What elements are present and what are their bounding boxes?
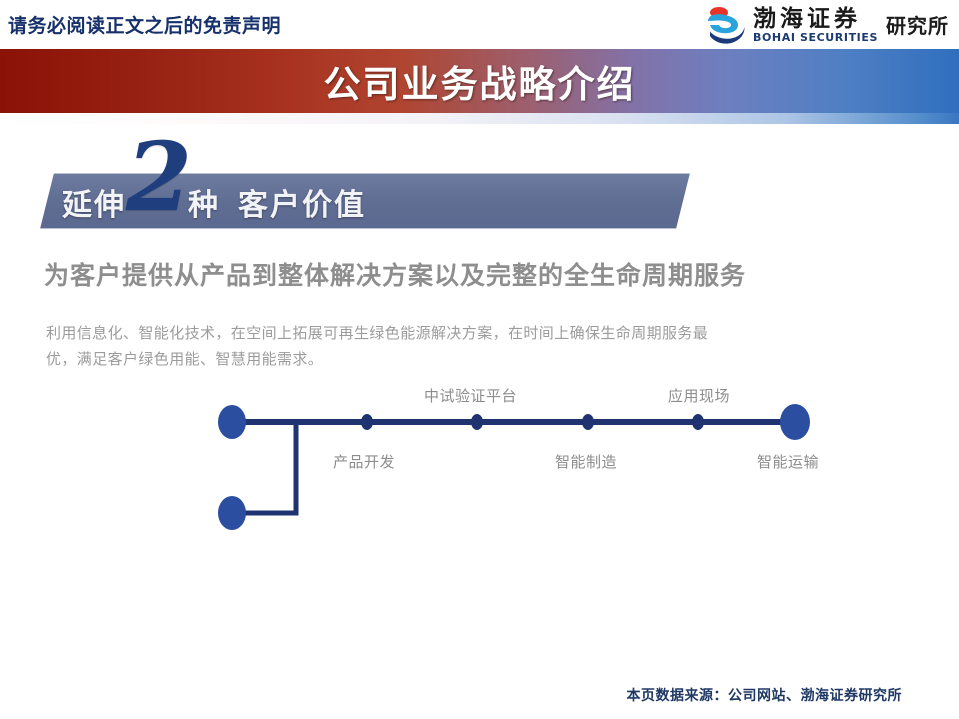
section-banner-label: 延伸种客户价值 bbox=[62, 180, 366, 224]
start-node-supply bbox=[218, 496, 246, 530]
disclaimer-text: 请务必阅读正文之后的免责声明 bbox=[8, 11, 281, 38]
logo-name-block: 渤海证券 BOHAI SECURITIES bbox=[753, 8, 878, 43]
logo-name-en: BOHAI SECURITIES bbox=[753, 32, 878, 43]
milestone-dot bbox=[692, 414, 704, 430]
banner-prefix: 延伸 bbox=[62, 188, 126, 223]
company-logo: 渤海证券 BOHAI SECURITIES 研究所 bbox=[705, 3, 949, 47]
diagram-label-milestone-4: 智能运输 bbox=[757, 451, 819, 472]
bohai-logo-mark-icon bbox=[705, 5, 747, 45]
slide-canvas: 请务必阅读正文之后的免责声明 渤海证券 BOHAI SECURITIES 研究所… bbox=[0, 0, 959, 719]
start-node-tech bbox=[218, 405, 246, 439]
top-disclaimer-bar: 请务必阅读正文之后的免责声明 渤海证券 BOHAI SECURITIES 研究所 bbox=[0, 0, 959, 49]
milestone-dot bbox=[471, 414, 483, 430]
diagram-label-milestone-2: 智能制造 bbox=[555, 451, 617, 472]
end-node-transport bbox=[780, 404, 810, 440]
page-title: 公司业务战略介绍 bbox=[0, 49, 959, 113]
diagram-label-milestone-0: 产品开发 bbox=[333, 451, 395, 472]
logo-institute-label: 研究所 bbox=[886, 10, 949, 41]
logo-name-cn: 渤海证券 bbox=[753, 8, 861, 31]
diagram-label-milestone-3: 应用现场 bbox=[668, 385, 730, 406]
banner-subject: 客户价值 bbox=[238, 188, 366, 223]
diagram-label-milestone-1: 中试验证平台 bbox=[424, 385, 517, 406]
milestone-dot bbox=[582, 414, 594, 430]
section-body-text: 利用信息化、智能化技术，在空间上拓展可再生绿色能源解决方案，在时间上确保生命周期… bbox=[46, 320, 736, 373]
banner-unit: 种 bbox=[188, 188, 220, 223]
milestone-dot bbox=[361, 414, 373, 430]
section-headline: 为客户提供从产品到整体解决方案以及完整的全生命周期服务 bbox=[44, 256, 746, 292]
footer-source-note: 本页数据来源：公司网站、渤海证券研究所 bbox=[627, 685, 903, 705]
